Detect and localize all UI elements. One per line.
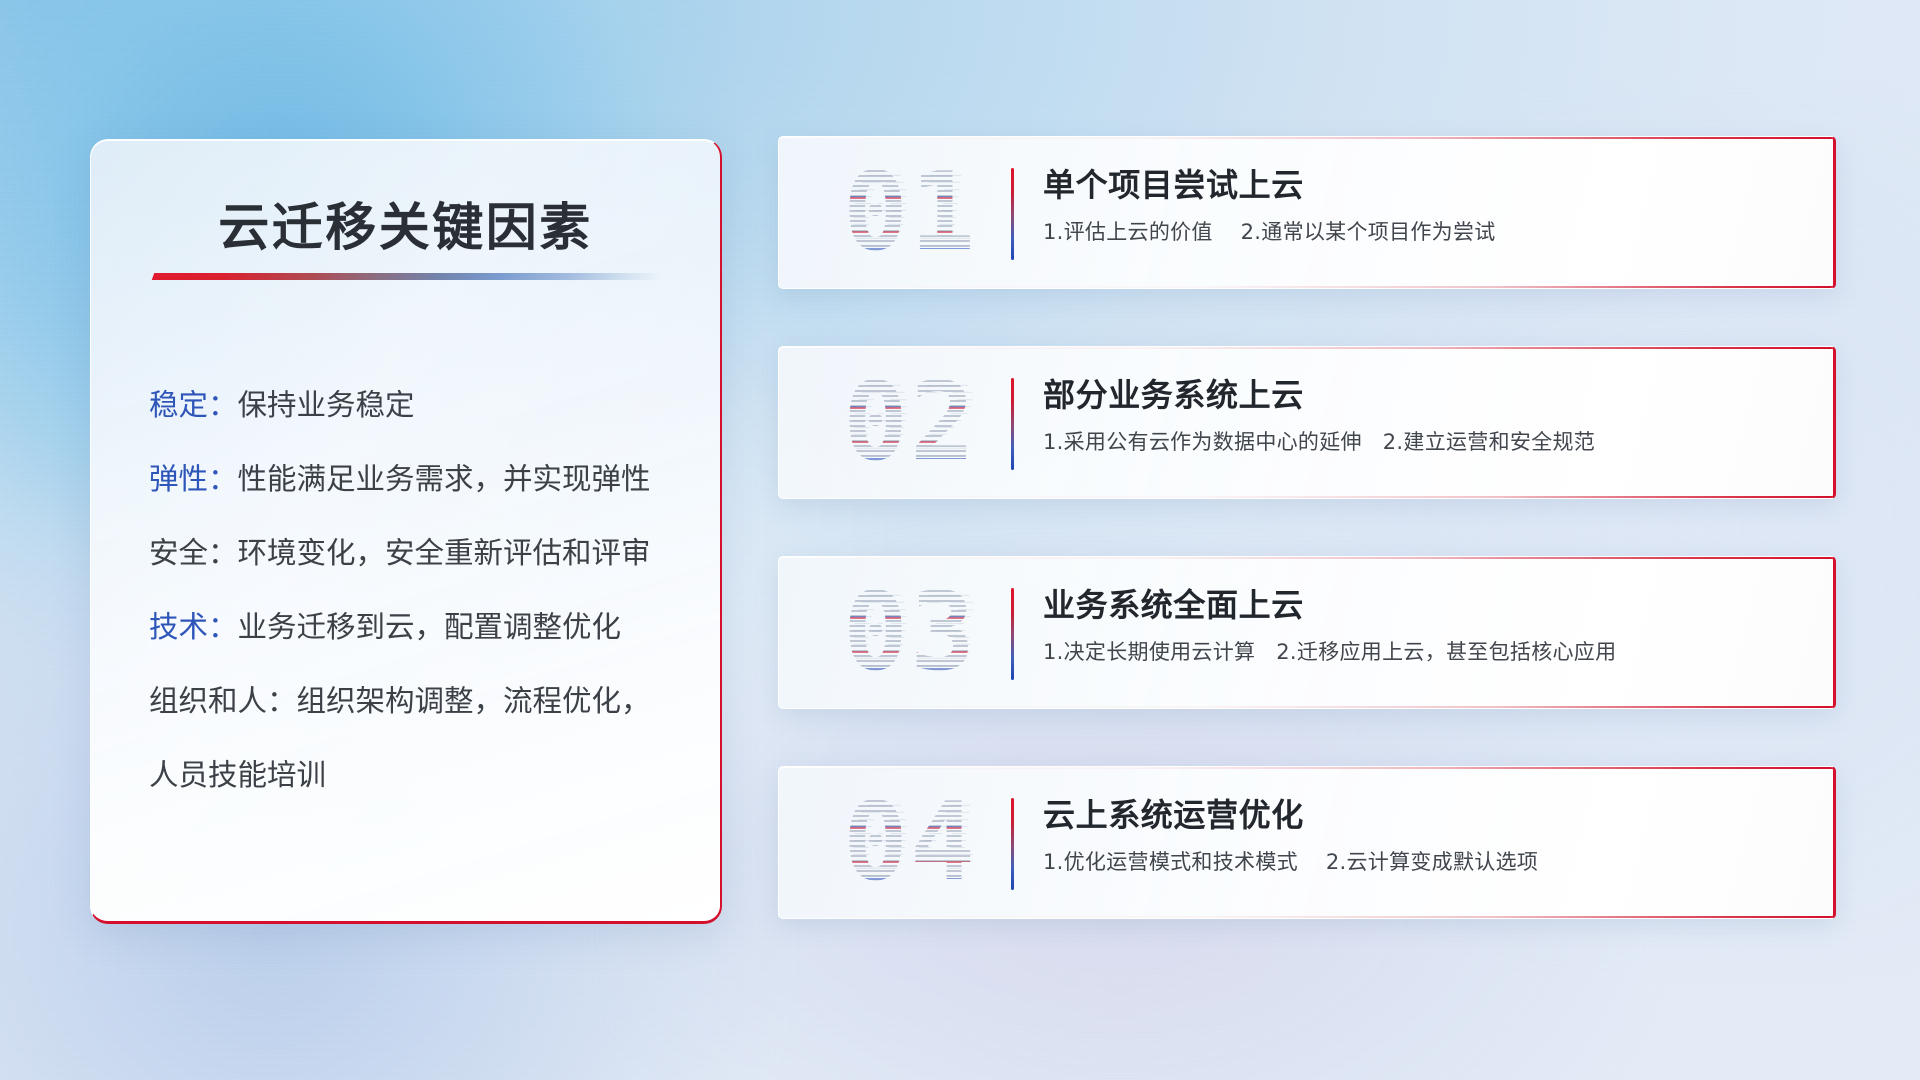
card-divider-gradient <box>1011 378 1014 470</box>
step-number-04: 04 04 04 <box>805 784 1015 902</box>
page-title: 云迁移关键因素 <box>91 186 720 260</box>
card-subtitle: 1.评估上云的价值 2.通常以某个项目作为尝试 <box>1043 219 1807 247</box>
list-item: 技术：业务迁移到云，配置调整优化 <box>149 590 690 664</box>
step-numeral-tint: 03 <box>843 579 977 687</box>
list-item: 组织和人：组织架构调整，流程优化， <box>149 664 690 738</box>
step-card-02[interactable]: 02 02 02 部分业务系统上云 1.采用公有云作为数据中心的延伸 2.建立运… <box>778 346 1836 499</box>
factor-label: 稳定： <box>149 388 238 422</box>
factor-value: 业务迁移到云，配置调整优化 <box>238 610 622 644</box>
title-underline-gradient <box>152 273 663 280</box>
list-item: 弹性：性能满足业务需求，并实现弹性 <box>149 442 690 516</box>
migration-steps-list: 01 01 01 单个项目尝试上云 1.评估上云的价值 2.通常以某个项目作为尝… <box>778 136 1836 919</box>
card-bottom-accent <box>779 496 1833 498</box>
card-subtitle: 1.决定长期使用云计算 2.迁移应用上云，甚至包括核心应用 <box>1043 639 1807 667</box>
card-divider-gradient <box>1011 168 1014 260</box>
card-text-block: 部分业务系统上云 1.采用公有云作为数据中心的延伸 2.建立运营和安全规范 <box>1043 375 1807 457</box>
list-item: 安全：环境变化，安全重新评估和评审 <box>149 516 690 590</box>
factor-label: 安全： <box>149 536 238 570</box>
card-title: 部分业务系统上云 <box>1043 375 1807 416</box>
card-divider-gradient <box>1011 798 1014 890</box>
card-text-block: 云上系统运营优化 1.优化运营模式和技术模式 2.云计算变成默认选项 <box>1043 795 1807 877</box>
factor-value: 组织架构调整，流程优化， <box>297 684 651 718</box>
key-factors-list: 稳定：保持业务稳定 弹性：性能满足业务需求，并实现弹性 安全：环境变化，安全重新… <box>149 368 690 812</box>
card-divider-gradient <box>1011 588 1014 680</box>
factor-label: 组织和人： <box>149 684 297 718</box>
step-numeral-base: 04 <box>843 789 977 897</box>
step-numeral-base: 03 <box>843 579 977 687</box>
step-numeral-shear: 02 <box>840 369 987 477</box>
step-number-03: 03 03 03 <box>805 574 1015 692</box>
factor-value: 人员技能培训 <box>149 758 326 792</box>
list-item: 人员技能培训 <box>149 738 690 812</box>
step-numeral-shear: 03 <box>840 579 987 687</box>
card-top-accent <box>779 347 1833 349</box>
card-top-accent <box>779 137 1833 139</box>
card-text-block: 业务系统全面上云 1.决定长期使用云计算 2.迁移应用上云，甚至包括核心应用 <box>1043 585 1807 667</box>
step-numeral-base: 01 <box>843 159 977 267</box>
step-numeral-base: 02 <box>843 369 977 477</box>
step-numeral-shear: 01 <box>840 159 987 267</box>
step-card-04[interactable]: 04 04 04 云上系统运营优化 1.优化运营模式和技术模式 2.云计算变成默… <box>778 766 1836 919</box>
card-bottom-accent <box>779 916 1833 918</box>
factor-label: 技术： <box>149 610 238 644</box>
slide-canvas: 云迁移关键因素 稳定：保持业务稳定 弹性：性能满足业务需求，并实现弹性 安全：环… <box>0 0 1920 1080</box>
step-numeral-tint: 04 <box>843 789 977 897</box>
card-bottom-accent <box>779 286 1833 288</box>
key-factors-panel: 云迁移关键因素 稳定：保持业务稳定 弹性：性能满足业务需求，并实现弹性 安全：环… <box>90 139 722 924</box>
card-title: 单个项目尝试上云 <box>1043 165 1807 206</box>
card-bottom-accent <box>779 706 1833 708</box>
step-number-01: 01 01 01 <box>805 154 1015 272</box>
step-card-01[interactable]: 01 01 01 单个项目尝试上云 1.评估上云的价值 2.通常以某个项目作为尝… <box>778 136 1836 289</box>
factor-label: 弹性： <box>149 462 238 496</box>
card-subtitle: 1.采用公有云作为数据中心的延伸 2.建立运营和安全规范 <box>1043 429 1807 457</box>
step-numeral-tint: 01 <box>843 159 977 267</box>
factor-value: 保持业务稳定 <box>238 388 415 422</box>
card-top-accent <box>779 557 1833 559</box>
step-number-02: 02 02 02 <box>805 364 1015 482</box>
step-numeral-tint: 02 <box>843 369 977 477</box>
card-title: 业务系统全面上云 <box>1043 585 1807 626</box>
card-subtitle: 1.优化运营模式和技术模式 2.云计算变成默认选项 <box>1043 849 1807 877</box>
factor-value: 性能满足业务需求，并实现弹性 <box>238 462 651 496</box>
step-card-03[interactable]: 03 03 03 业务系统全面上云 1.决定长期使用云计算 2.迁移应用上云，甚… <box>778 556 1836 709</box>
card-title: 云上系统运营优化 <box>1043 795 1807 836</box>
card-text-block: 单个项目尝试上云 1.评估上云的价值 2.通常以某个项目作为尝试 <box>1043 165 1807 247</box>
card-top-accent <box>779 767 1833 769</box>
list-item: 稳定：保持业务稳定 <box>149 368 690 442</box>
factor-value: 环境变化，安全重新评估和评审 <box>238 536 651 570</box>
step-numeral-shear: 04 <box>840 789 987 897</box>
